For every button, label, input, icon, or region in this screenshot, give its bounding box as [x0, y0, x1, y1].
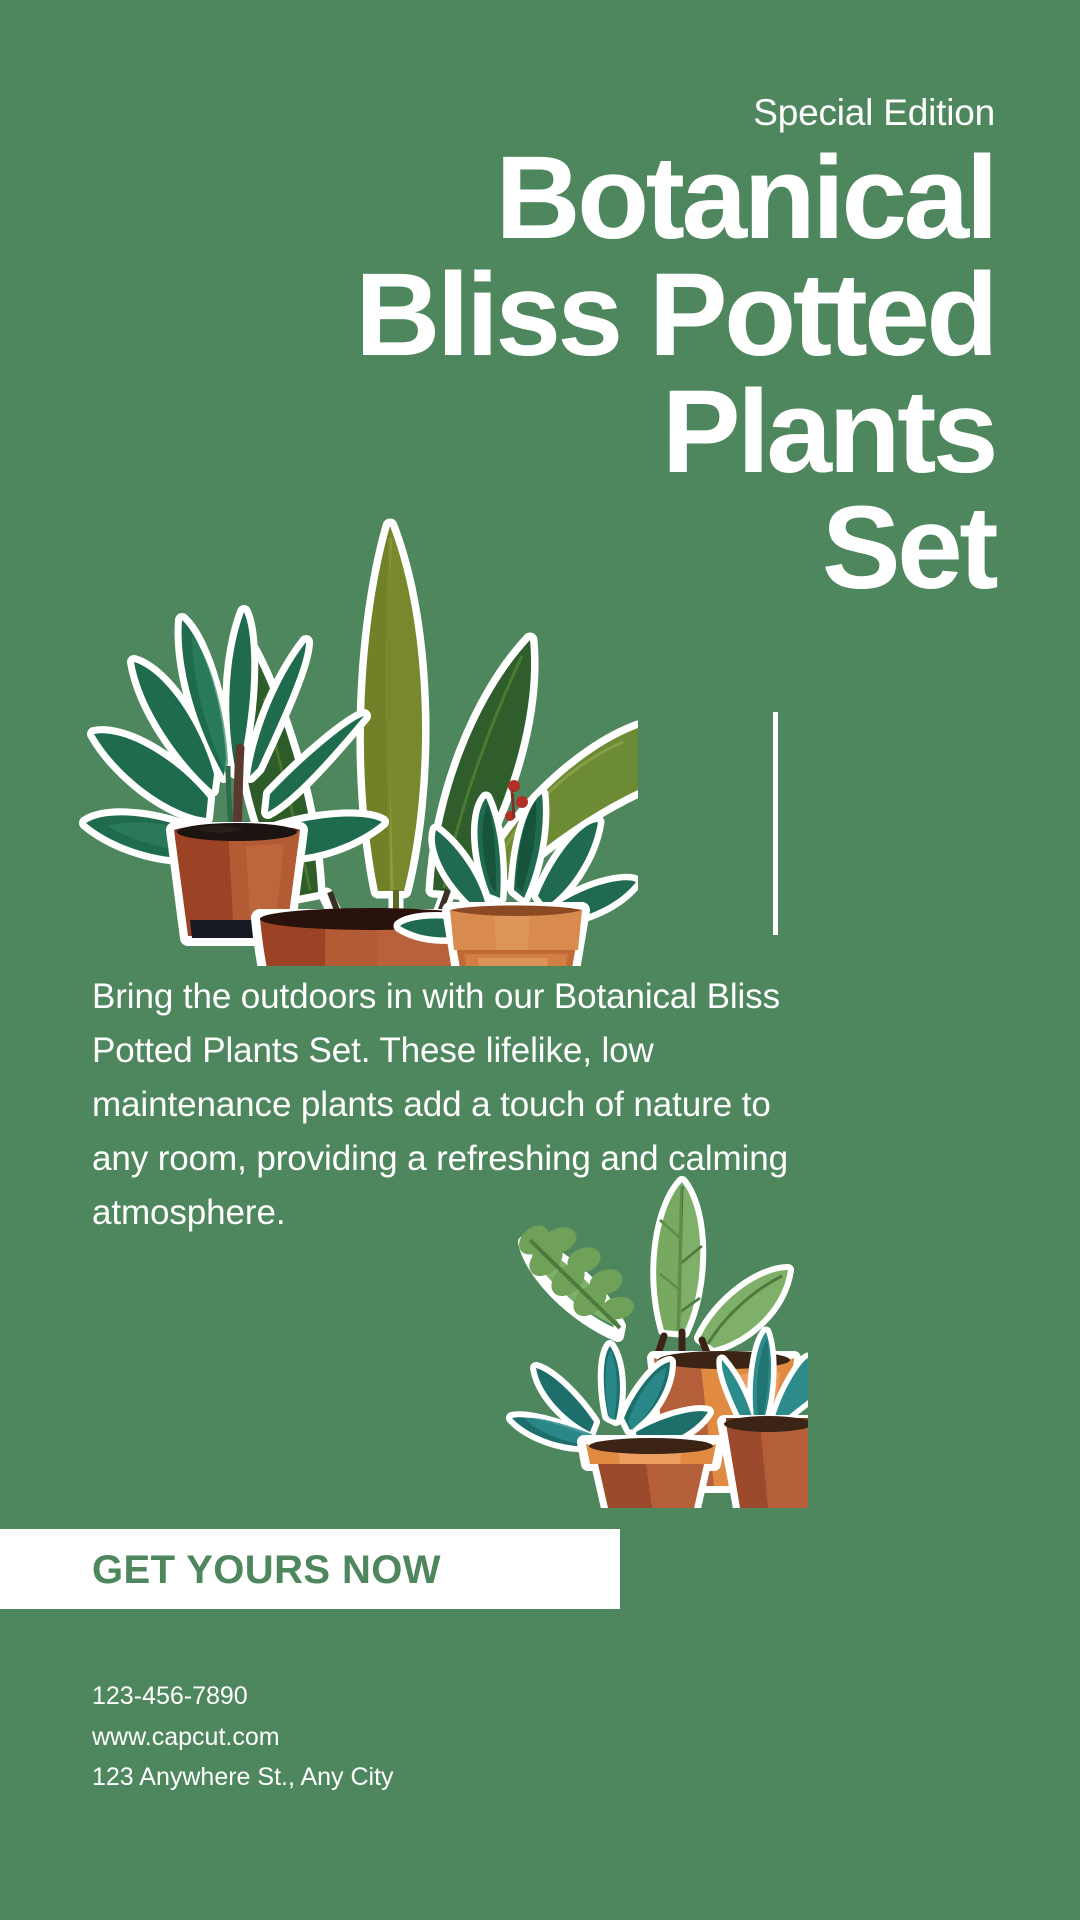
- spider-plant-pot: [450, 906, 582, 967]
- contact-phone[interactable]: 123-456-7890: [92, 1676, 394, 1717]
- zz-plant: [513, 1182, 788, 1366]
- bottom-right-plants-illustration: [468, 1168, 808, 1508]
- hero-potted-plants-illustration: [78, 398, 638, 966]
- contact-address: 123 Anywhere St., Any City: [92, 1757, 394, 1798]
- contact-block: 123-456-7890 www.capcut.com 123 Anywhere…: [92, 1676, 394, 1798]
- right-small-pot: [724, 1416, 808, 1508]
- contact-website[interactable]: www.capcut.com: [92, 1717, 394, 1758]
- vertical-accent-rule: [773, 712, 778, 935]
- small-terracotta-pot: [584, 1438, 718, 1508]
- cta-label[interactable]: GET YOURS NOW: [92, 1548, 441, 1593]
- eyebrow-special-edition: Special Edition: [753, 92, 995, 134]
- title-line-2: Bliss Potted: [65, 257, 995, 374]
- poster-canvas: Special Edition Botanical Bliss Potted P…: [0, 0, 1080, 1920]
- title-line-1: Botanical: [65, 140, 995, 257]
